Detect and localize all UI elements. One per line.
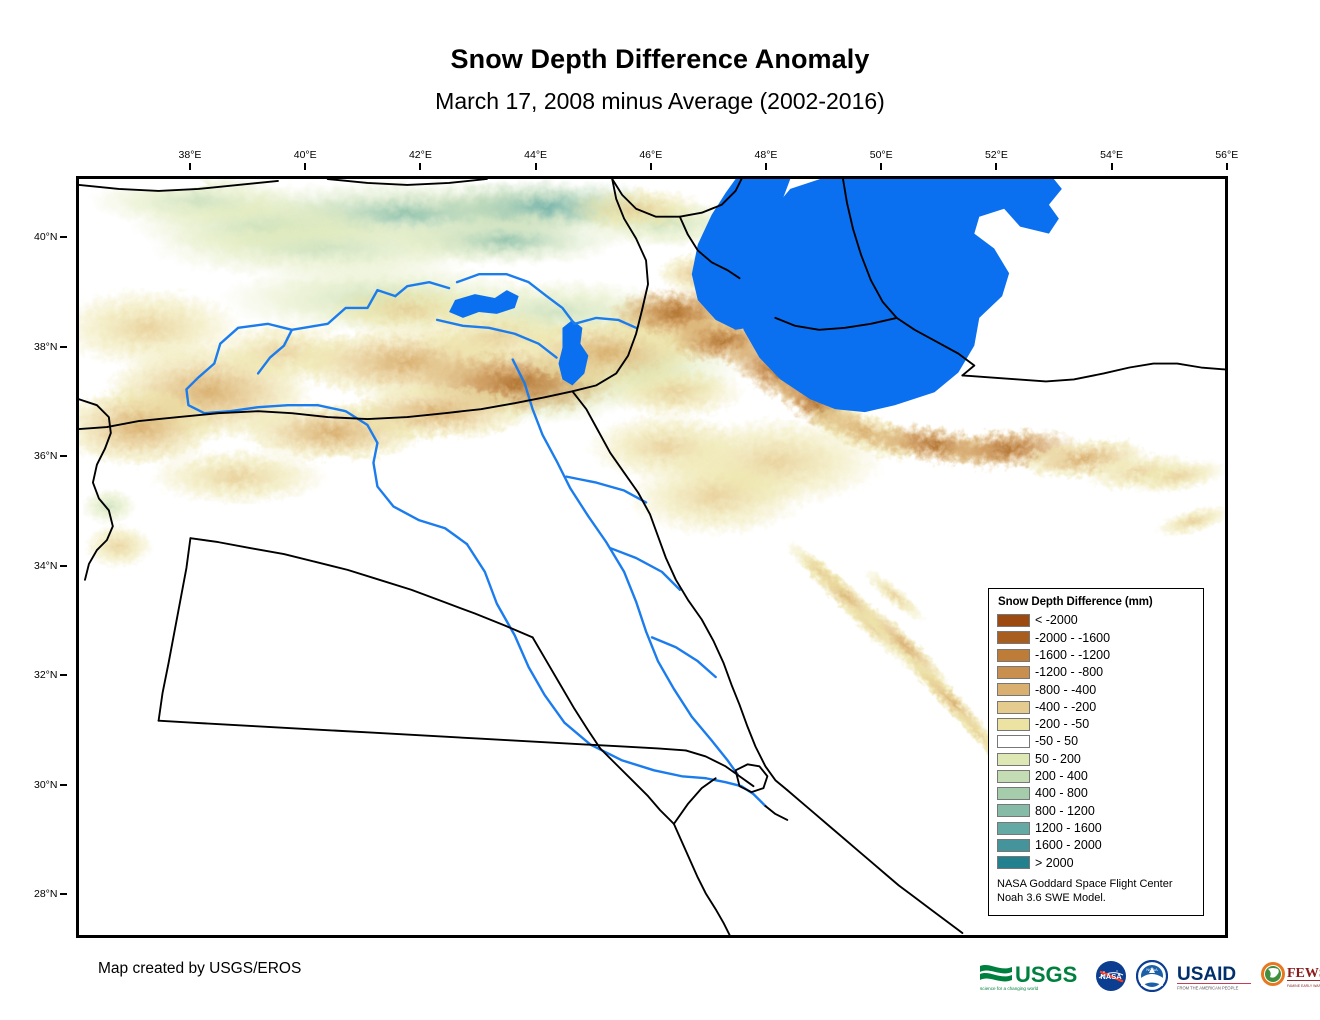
lon-tick-mark	[765, 163, 767, 170]
lat-tick-mark	[60, 674, 67, 676]
lon-tick-label: 38°E	[160, 149, 220, 161]
legend-row: 400 - 800	[997, 785, 1195, 802]
lon-tick-label: 56°E	[1197, 149, 1257, 161]
lat-tick-label: 28°N	[34, 888, 57, 900]
legend-row: -200 - -50	[997, 716, 1195, 733]
legend-color-swatch	[997, 839, 1030, 852]
lon-tick-mark	[995, 163, 997, 170]
lat-tick: 30°N	[34, 779, 67, 791]
legend-label: 200 - 400	[1035, 770, 1088, 783]
legend-row: 800 - 1200	[997, 802, 1195, 819]
lat-tick-label: 30°N	[34, 779, 57, 791]
svg-text:NOAA: NOAA	[1146, 967, 1158, 972]
legend-label: -400 - -200	[1035, 701, 1096, 714]
lon-tick: 52°E	[966, 149, 1026, 170]
legend-color-swatch	[997, 770, 1030, 783]
agency-logos: USGS science for a changing world NASA	[978, 956, 1320, 996]
legend-label: -1200 - -800	[1035, 666, 1103, 679]
legend-row: -1200 - -800	[997, 664, 1195, 681]
legend-row: < -2000	[997, 612, 1195, 629]
legend-color-swatch	[997, 822, 1030, 835]
legend-label: -200 - -50	[1035, 718, 1089, 731]
legend-row: 200 - 400	[997, 768, 1195, 785]
lon-tick-mark	[650, 163, 652, 170]
legend-color-swatch	[997, 735, 1030, 748]
svg-text:USAID: USAID	[1177, 964, 1236, 985]
legend-label: 800 - 1200	[1035, 805, 1095, 818]
legend-color-swatch	[997, 753, 1030, 766]
svg-text:NASA: NASA	[1100, 972, 1122, 981]
lon-tick-label: 42°E	[390, 149, 450, 161]
lon-tick: 42°E	[390, 149, 450, 170]
legend-row: -1600 - -1200	[997, 647, 1195, 664]
legend-row: 1200 - 1600	[997, 820, 1195, 837]
lon-tick: 46°E	[621, 149, 681, 170]
legend-note-line2: Noah 3.6 SWE Model.	[997, 892, 1195, 905]
legend-row: -2000 - -1600	[997, 629, 1195, 646]
svg-text:USGS: USGS	[1015, 962, 1077, 987]
lat-tick-mark	[60, 455, 67, 457]
legend-title: Snow Depth Difference (mm)	[998, 596, 1195, 608]
lon-tick-mark	[419, 163, 421, 170]
page-title: Snow Depth Difference Anomaly	[0, 44, 1320, 75]
lon-tick: 50°E	[851, 149, 911, 170]
legend-row: 50 - 200	[997, 750, 1195, 767]
lat-tick: 36°N	[34, 450, 67, 462]
fewsnet-logo: FEWS NET FAMINE EARLY WARNING SYSTEMS NE…	[1260, 959, 1320, 993]
lon-tick: 38°E	[160, 149, 220, 170]
lon-tick-mark	[880, 163, 882, 170]
lat-tick-mark	[60, 346, 67, 348]
lon-tick-mark	[1226, 163, 1228, 170]
lat-tick-label: 38°N	[34, 341, 57, 353]
lon-tick: 54°E	[1082, 149, 1142, 170]
legend-note-line1: NASA Goddard Space Flight Center	[997, 878, 1195, 891]
noaa-logo: NOAA	[1136, 959, 1168, 993]
lon-tick-label: 50°E	[851, 149, 911, 161]
legend-row: -50 - 50	[997, 733, 1195, 750]
lon-tick-mark	[189, 163, 191, 170]
legend-row: 1600 - 2000	[997, 837, 1195, 854]
lat-tick: 38°N	[34, 341, 67, 353]
legend-row: > 2000	[997, 854, 1195, 871]
legend-color-swatch	[997, 856, 1030, 869]
legend-entries: < -2000-2000 - -1600-1600 - -1200-1200 -…	[997, 612, 1195, 871]
legend-color-swatch	[997, 701, 1030, 714]
legend-color-swatch	[997, 631, 1030, 644]
lat-tick: 34°N	[34, 560, 67, 572]
legend-label: 1600 - 2000	[1035, 839, 1102, 852]
lon-tick: 56°E	[1197, 149, 1257, 170]
legend-color-swatch	[997, 649, 1030, 662]
legend-label: -50 - 50	[1035, 735, 1078, 748]
lon-tick-label: 40°E	[275, 149, 335, 161]
page-subtitle: March 17, 2008 minus Average (2002-2016)	[0, 88, 1320, 115]
lon-tick: 40°E	[275, 149, 335, 170]
usaid-logo: USAID FROM THE AMERICAN PEOPLE	[1177, 959, 1251, 993]
lon-tick-mark	[1111, 163, 1113, 170]
usgs-logo: USGS science for a changing world	[978, 959, 1086, 993]
legend-label: > 2000	[1035, 857, 1074, 870]
svg-text:FROM THE AMERICAN PEOPLE: FROM THE AMERICAN PEOPLE	[1177, 986, 1239, 991]
lon-tick: 48°E	[736, 149, 796, 170]
legend-color-swatch	[997, 718, 1030, 731]
lon-tick-label: 54°E	[1082, 149, 1142, 161]
lat-tick: 32°N	[34, 669, 67, 681]
lat-tick-mark	[60, 236, 67, 238]
legend-color-swatch	[997, 614, 1030, 627]
map-page: Snow Depth Difference Anomaly March 17, …	[0, 0, 1320, 1020]
legend-label: -800 - -400	[1035, 684, 1096, 697]
legend-label: < -2000	[1035, 614, 1078, 627]
legend-label: 50 - 200	[1035, 753, 1081, 766]
legend-color-swatch	[997, 666, 1030, 679]
lat-tick-label: 36°N	[34, 450, 57, 462]
lon-tick: 44°E	[506, 149, 566, 170]
lat-tick-mark	[60, 565, 67, 567]
legend-row: -400 - -200	[997, 698, 1195, 715]
legend-label: -2000 - -1600	[1035, 632, 1110, 645]
map-credit: Map created by USGS/EROS	[98, 960, 301, 978]
svg-text:FEWS NET: FEWS NET	[1287, 966, 1320, 981]
lon-tick-label: 44°E	[506, 149, 566, 161]
legend-color-swatch	[997, 683, 1030, 696]
svg-text:science for a changing world: science for a changing world	[980, 986, 1039, 991]
lat-tick-label: 34°N	[34, 560, 57, 572]
lon-tick-label: 46°E	[621, 149, 681, 161]
legend-color-swatch	[997, 804, 1030, 817]
lat-tick-label: 40°N	[34, 231, 57, 243]
legend-color-swatch	[997, 787, 1030, 800]
svg-text:FAMINE EARLY WARNING SYSTEMS N: FAMINE EARLY WARNING SYSTEMS NETWORK	[1287, 984, 1320, 988]
lat-tick: 40°N	[34, 231, 67, 243]
legend-label: 400 - 800	[1035, 787, 1088, 800]
legend-source-note: NASA Goddard Space Flight Center Noah 3.…	[997, 878, 1195, 905]
lon-tick-label: 52°E	[966, 149, 1026, 161]
nasa-logo: NASA	[1095, 959, 1127, 993]
map-legend: Snow Depth Difference (mm) < -2000-2000 …	[988, 588, 1204, 916]
legend-row: -800 - -400	[997, 681, 1195, 698]
lat-tick: 28°N	[34, 888, 67, 900]
lat-tick-label: 32°N	[34, 669, 57, 681]
legend-label: 1200 - 1600	[1035, 822, 1102, 835]
lat-tick-mark	[60, 784, 67, 786]
lon-tick-mark	[535, 163, 537, 170]
lon-tick-label: 48°E	[736, 149, 796, 161]
lon-tick-mark	[304, 163, 306, 170]
lat-tick-mark	[60, 893, 67, 895]
legend-label: -1600 - -1200	[1035, 649, 1110, 662]
